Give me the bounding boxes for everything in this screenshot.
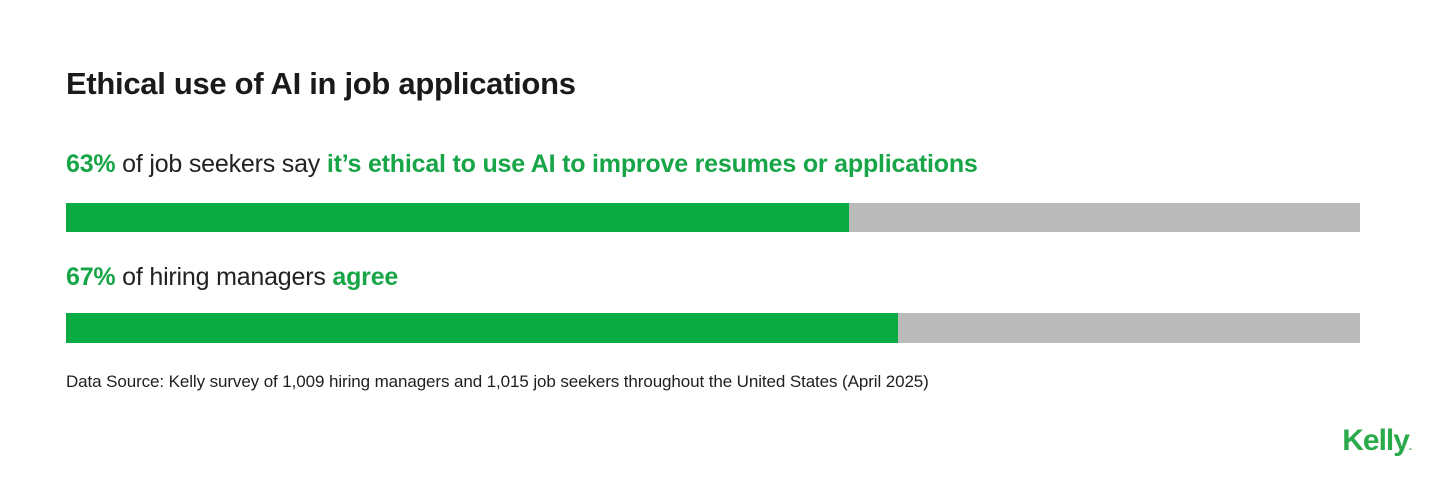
kelly-logo-wordmark: Kelly [1342, 424, 1409, 457]
infographic-canvas: Ethical use of AI in job applications 63… [0, 0, 1440, 478]
trademark-icon: . [1409, 441, 1412, 453]
progress-bar-fill-hiring-managers [66, 313, 898, 343]
kelly-logo: Kelly. [1342, 424, 1412, 458]
data-source-note: Data Source: Kelly survey of 1,009 hirin… [66, 372, 929, 392]
progress-bar-job-seekers [66, 203, 1360, 232]
stat-line-hiring-managers: 67% of hiring managers agree [66, 263, 398, 292]
stat-line-job-seekers: 63% of job seekers say it’s ethical to u… [66, 150, 978, 179]
stat-plain-text-job-seekers: of job seekers say [115, 150, 326, 178]
stat-percent-hiring-managers: 67% [66, 263, 115, 291]
stat-accent-text-job-seekers: it’s ethical to use AI to improve resume… [327, 150, 978, 178]
stat-percent-job-seekers: 63% [66, 150, 115, 178]
progress-bar-hiring-managers [66, 313, 1360, 343]
stat-accent-text-hiring-managers: agree [332, 263, 398, 291]
stat-plain-text-hiring-managers: of hiring managers [115, 263, 332, 291]
progress-bar-fill-job-seekers [66, 203, 849, 232]
page-title: Ethical use of AI in job applications [66, 66, 576, 102]
